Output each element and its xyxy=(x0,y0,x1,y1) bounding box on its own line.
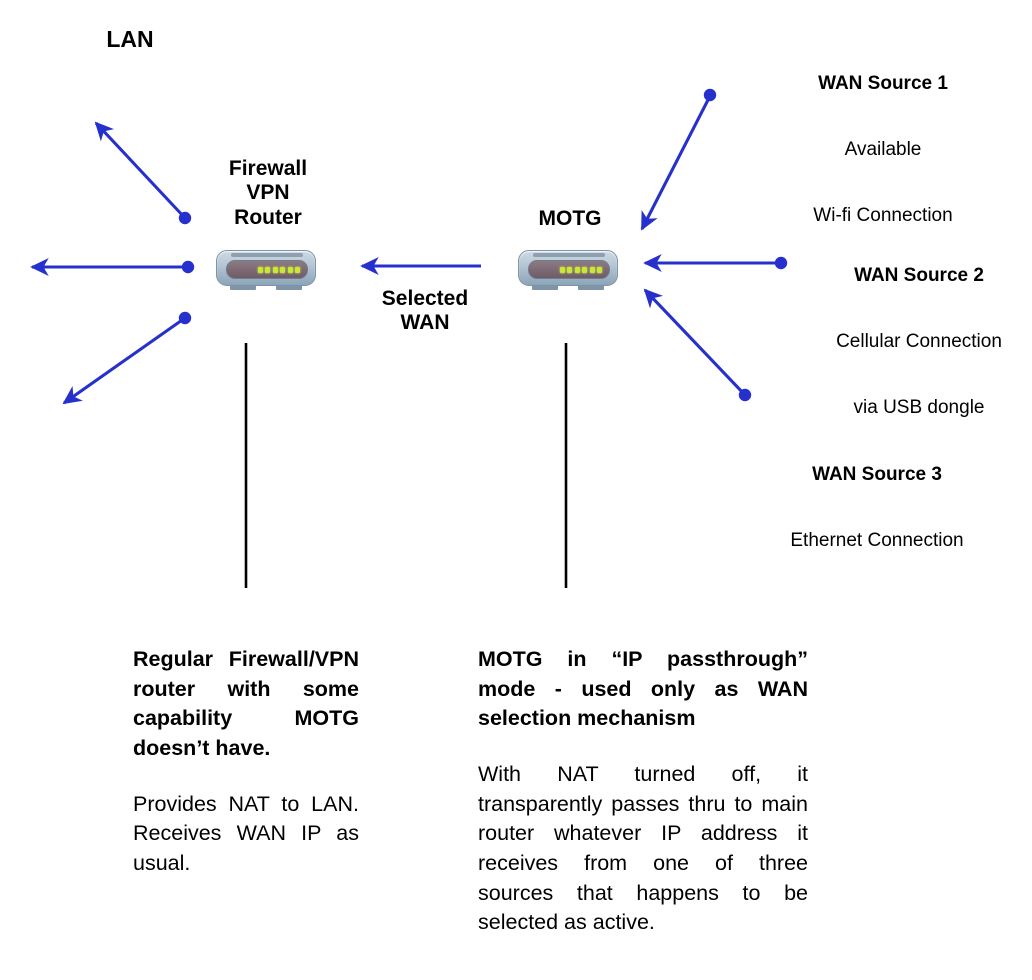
device-front-panel xyxy=(528,260,610,279)
device-shell xyxy=(216,250,316,286)
led-indicator xyxy=(288,267,293,273)
lan-connector-middle xyxy=(32,261,194,273)
motg-icon xyxy=(518,250,618,290)
note-left-spacer xyxy=(133,764,359,790)
firewall-vpn-router-label: Firewall VPN Router xyxy=(197,157,339,230)
led-indicator xyxy=(590,267,595,273)
led-indicator xyxy=(258,267,263,273)
led-indicator xyxy=(582,267,587,273)
device-vent-stripe xyxy=(231,253,303,257)
led-indicator xyxy=(575,267,580,273)
wan-source-2-line-2: via USB dongle xyxy=(812,397,1026,419)
wan-source-1-connector xyxy=(642,89,716,229)
wan-source-2-title: WAN Source 2 xyxy=(812,265,1026,287)
lan-connector-upper xyxy=(96,123,191,224)
wan-source-1-title: WAN Source 1 xyxy=(760,73,1006,95)
wan-source-1-line-1: Available xyxy=(760,139,1006,161)
device-led-row xyxy=(560,267,603,273)
wan-source-2-line-1: Cellular Connection xyxy=(812,331,1026,353)
diagram-canvas: LAN Firewall VPN Router MOTG Selected WA… xyxy=(0,0,1032,980)
note-column-left: Regular Firewall/VPN router with some ca… xyxy=(133,645,359,879)
wan-source-3-connector xyxy=(645,290,751,401)
lan-connector-lower xyxy=(64,312,191,403)
note-right-spacer xyxy=(478,734,808,760)
note-right-bold: MOTG in “IP passthrough” mode - used onl… xyxy=(478,645,808,734)
firewall-vpn-router-icon xyxy=(216,250,316,290)
device-front-panel xyxy=(226,260,308,279)
note-column-right: MOTG in “IP passthrough” mode - used onl… xyxy=(478,645,808,938)
motg-label: MOTG xyxy=(505,207,635,231)
note-left-bold: Regular Firewall/VPN router with some ca… xyxy=(133,645,359,764)
note-left-normal: Provides NAT to LAN. Receives WAN IP as … xyxy=(133,790,359,879)
led-indicator xyxy=(295,267,300,273)
device-vent-stripe xyxy=(533,253,605,257)
led-indicator xyxy=(567,267,572,273)
led-indicator xyxy=(273,267,278,273)
lan-label: LAN xyxy=(60,26,200,53)
led-indicator xyxy=(597,267,602,273)
device-shell xyxy=(518,250,618,286)
selected-wan-label: Selected WAN xyxy=(355,287,495,336)
led-indicator xyxy=(280,267,285,273)
device-led-row xyxy=(258,267,301,273)
wan-source-3-block: WAN Source 3 Ethernet Connection xyxy=(752,420,1002,596)
led-indicator xyxy=(265,267,270,273)
led-indicator xyxy=(560,267,565,273)
wan-source-3-line-1: Ethernet Connection xyxy=(752,530,1002,552)
note-right-normal: With NAT turned off, it transparently pa… xyxy=(478,760,808,938)
wan-source-3-title: WAN Source 3 xyxy=(752,464,1002,486)
